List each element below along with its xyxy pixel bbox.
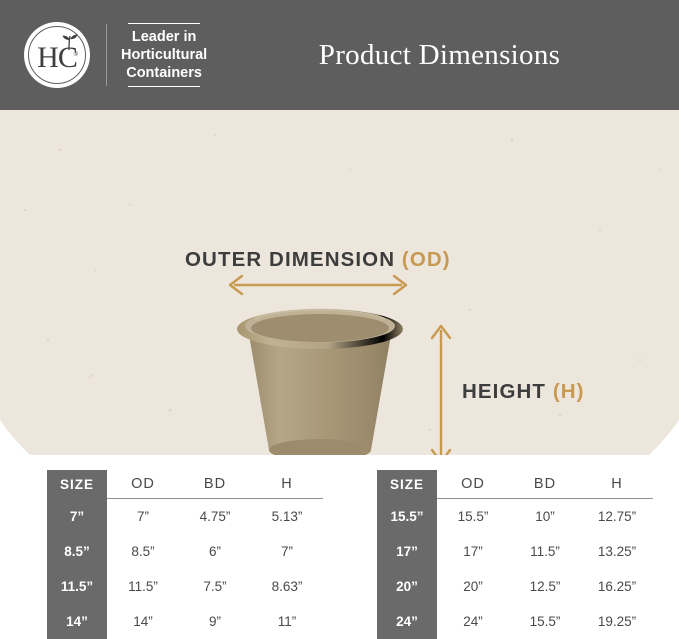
table-left-body: 7”7”4.75”5.13”8.5”8.5”6”7”11.5”11.5”7.5”… bbox=[47, 499, 323, 639]
cell-od: 14” bbox=[107, 604, 179, 639]
table-row: 17”17”11.5”13.25” bbox=[377, 534, 653, 569]
cell-od: 8.5” bbox=[107, 534, 179, 569]
table-header-row: SIZE OD BD H bbox=[377, 470, 653, 499]
cell-size: 11.5” bbox=[47, 569, 107, 604]
cell-h: 12.75” bbox=[581, 499, 653, 535]
cell-od: 20” bbox=[437, 569, 509, 604]
dimension-tables: SIZE OD BD H 7”7”4.75”5.13”8.5”8.5”6”7”1… bbox=[0, 470, 679, 636]
column-header-od: OD bbox=[437, 470, 509, 499]
cell-bd: 10” bbox=[509, 499, 581, 535]
cell-bd: 6” bbox=[179, 534, 251, 569]
table-row: 15.5”15.5”10”12.75” bbox=[377, 499, 653, 535]
cell-size: 14” bbox=[47, 604, 107, 639]
column-header-bd: BD bbox=[179, 470, 251, 499]
logo-circle-icon: HC ® bbox=[24, 22, 90, 88]
logo-trademark: ® bbox=[74, 52, 78, 58]
height-label: HEIGHT (H) bbox=[462, 380, 585, 404]
cell-od: 11.5” bbox=[107, 569, 179, 604]
cell-h: 8.63” bbox=[251, 569, 323, 604]
column-header-h: H bbox=[581, 470, 653, 499]
tagline-line-1: Leader in bbox=[121, 28, 207, 46]
leaf-sprig-icon bbox=[58, 33, 80, 51]
table-right-header: SIZE OD BD H bbox=[377, 470, 653, 499]
column-header-od: OD bbox=[107, 470, 179, 499]
page-header: HC ® Leader in Horticultural Containers … bbox=[0, 0, 679, 110]
brand-logo: HC ® Leader in Horticultural Containers bbox=[24, 22, 207, 88]
cell-size: 24” bbox=[377, 604, 437, 639]
outer-dimension-text: OUTER DIMENSION bbox=[185, 248, 402, 271]
cell-od: 17” bbox=[437, 534, 509, 569]
cell-bd: 11.5” bbox=[509, 534, 581, 569]
table-row: 24”24”15.5”19.25” bbox=[377, 604, 653, 639]
cell-bd: 15.5” bbox=[509, 604, 581, 639]
cell-od: 15.5” bbox=[437, 499, 509, 535]
cell-h: 11” bbox=[251, 604, 323, 639]
cell-size: 7” bbox=[47, 499, 107, 535]
height-text: HEIGHT bbox=[462, 380, 553, 403]
table-row: 7”7”4.75”5.13” bbox=[47, 499, 323, 535]
cell-size: 15.5” bbox=[377, 499, 437, 535]
cell-bd: 12.5” bbox=[509, 569, 581, 604]
cell-bd: 4.75” bbox=[179, 499, 251, 535]
table-row: 14”14”9”11” bbox=[47, 604, 323, 639]
outer-dimension-arrow bbox=[222, 272, 414, 298]
table-header-row: SIZE OD BD H bbox=[47, 470, 323, 499]
cell-h: 5.13” bbox=[251, 499, 323, 535]
brand-tagline: Leader in Horticultural Containers bbox=[121, 23, 207, 87]
cell-od: 7” bbox=[107, 499, 179, 535]
cell-h: 19.25” bbox=[581, 604, 653, 639]
dimension-table-left: SIZE OD BD H 7”7”4.75”5.13”8.5”8.5”6”7”1… bbox=[47, 470, 323, 639]
cell-h: 7” bbox=[251, 534, 323, 569]
cell-h: 16.25” bbox=[581, 569, 653, 604]
table-right-body: 15.5”15.5”10”12.75”17”17”11.5”13.25”20”2… bbox=[377, 499, 653, 639]
cell-size: 8.5” bbox=[47, 534, 107, 569]
column-header-size: SIZE bbox=[47, 470, 107, 499]
height-arrow bbox=[428, 318, 454, 455]
logo-divider bbox=[106, 24, 107, 86]
table-left-header: SIZE OD BD H bbox=[47, 470, 323, 499]
height-abbr: (H) bbox=[553, 380, 585, 403]
cell-bd: 7.5” bbox=[179, 569, 251, 604]
outer-dimension-abbr: (OD) bbox=[402, 248, 451, 271]
tagline-line-2: Horticultural bbox=[121, 46, 207, 64]
outer-dimension-label: OUTER DIMENSION (OD) bbox=[185, 248, 451, 272]
planter-pot-illustration bbox=[225, 305, 415, 455]
tagline-line-3: Containers bbox=[121, 64, 207, 82]
table-row: 20”20”12.5”16.25” bbox=[377, 569, 653, 604]
dimension-table-right: SIZE OD BD H 15.5”15.5”10”12.75”17”17”11… bbox=[377, 470, 653, 639]
cell-bd: 9” bbox=[179, 604, 251, 639]
column-header-bd: BD bbox=[509, 470, 581, 499]
cell-od: 24” bbox=[437, 604, 509, 639]
table-row: 11.5”11.5”7.5”8.63” bbox=[47, 569, 323, 604]
column-header-size: SIZE bbox=[377, 470, 437, 499]
cell-size: 17” bbox=[377, 534, 437, 569]
cell-h: 13.25” bbox=[581, 534, 653, 569]
cell-size: 20” bbox=[377, 569, 437, 604]
column-header-h: H bbox=[251, 470, 323, 499]
table-row: 8.5”8.5”6”7” bbox=[47, 534, 323, 569]
diagram-panel: OUTER DIMENSION (OD) bbox=[0, 110, 679, 455]
